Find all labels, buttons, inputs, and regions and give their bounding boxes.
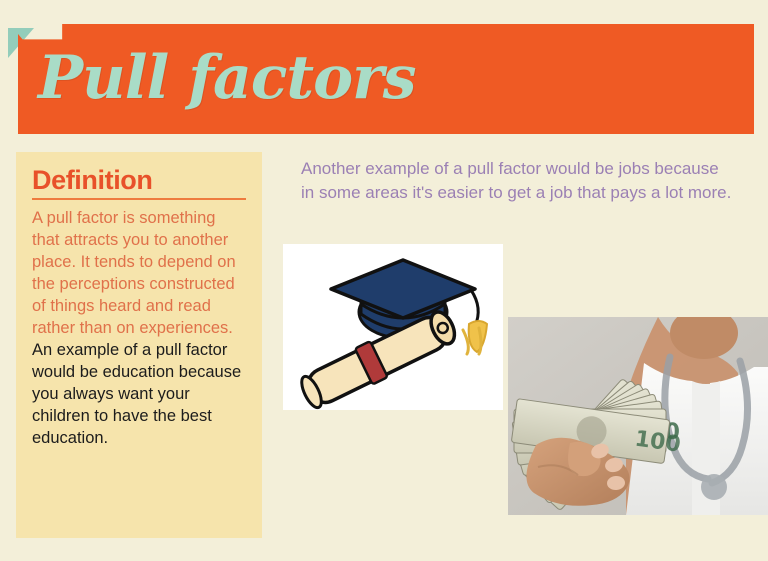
money-photo: 100 100 — [508, 317, 768, 515]
definition-divider — [32, 198, 246, 200]
banner-fold-notch-icon — [18, 34, 40, 60]
definition-heading: Definition — [32, 166, 246, 194]
definition-card: Definition A pull factor is something th… — [16, 152, 262, 538]
graduation-cap-image — [283, 244, 503, 410]
definition-text-primary: A pull factor is something that attracts… — [32, 208, 246, 340]
slide-canvas: Pull factors Definition A pull factor is… — [0, 0, 768, 561]
page-title: Pull factors — [38, 48, 416, 108]
doctor-with-cash-illustration: 100 100 — [508, 317, 768, 515]
definition-text-example: An example of a pull factor would be edu… — [32, 340, 246, 450]
title-banner: Pull factors — [0, 14, 768, 139]
jobs-example-text: Another example of a pull factor would b… — [301, 157, 733, 204]
graduation-cap-illustration — [283, 244, 503, 410]
